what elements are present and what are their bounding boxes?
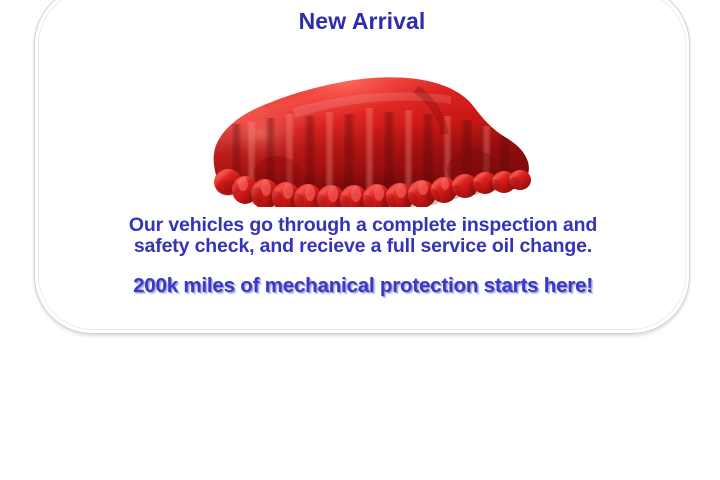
warranty-tagline: 200k miles of mechanical protection star…	[65, 274, 661, 298]
new-arrival-promo-card: New Arrival	[34, 0, 690, 334]
description-line-1: Our vehicles go through a complete inspe…	[65, 215, 661, 236]
covered-car-icon	[173, 42, 553, 207]
inspection-description: Our vehicles go through a complete inspe…	[65, 215, 661, 257]
description-line-2: safety check, and recieve a full service…	[65, 236, 661, 257]
page-title: New Arrival	[35, 10, 689, 33]
